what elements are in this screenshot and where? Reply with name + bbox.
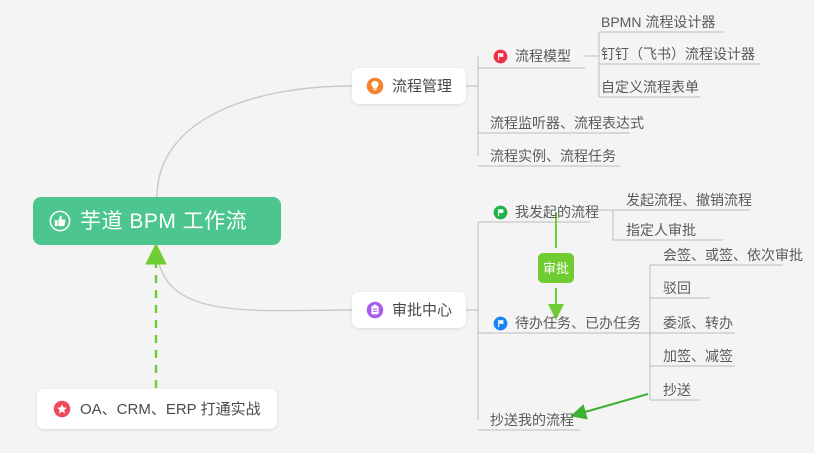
leaf-label: 钉钉（飞书）流程设计器 bbox=[601, 47, 755, 61]
leaf-label: 委派、转办 bbox=[663, 316, 733, 330]
leaf-start-cancel-process[interactable]: 发起流程、撤销流程 bbox=[626, 188, 752, 212]
root-label: 芋道 BPM 工作流 bbox=[80, 211, 247, 232]
approval-tag[interactable]: 审批 bbox=[538, 253, 574, 283]
red-star-icon bbox=[53, 400, 71, 418]
leaf-label: 流程实例、流程任务 bbox=[490, 149, 616, 163]
leaf-dingtalk-feishu-designer[interactable]: 钉钉（飞书）流程设计器 bbox=[601, 42, 755, 66]
leaf-countersign[interactable]: 会签、或签、依次审批 bbox=[663, 243, 803, 267]
thumbs-up-circle-icon bbox=[49, 210, 71, 232]
leaf-cc-to-me[interactable]: 抄送我的流程 bbox=[490, 408, 574, 432]
leaf-label: 我发起的流程 bbox=[515, 205, 599, 219]
leaf-process-model[interactable]: 流程模型 bbox=[493, 44, 571, 68]
root-node[interactable]: 芋道 BPM 工作流 bbox=[33, 197, 281, 245]
leaf-label: 加签、减签 bbox=[663, 349, 733, 363]
leaf-label: 流程监听器、流程表达式 bbox=[490, 116, 644, 130]
leaf-label: 待办任务、已办任务 bbox=[515, 316, 641, 330]
leaf-delegate-transfer[interactable]: 委派、转办 bbox=[663, 311, 733, 335]
leaf-cc[interactable]: 抄送 bbox=[663, 378, 691, 402]
leaf-label: 发起流程、撤销流程 bbox=[626, 193, 752, 207]
leaf-label: BPMN 流程设计器 bbox=[601, 15, 715, 29]
leaf-add-remove-sign[interactable]: 加签、减签 bbox=[663, 344, 733, 368]
leaf-label: 指定人审批 bbox=[626, 223, 696, 237]
leaf-todo-done-tasks[interactable]: 待办任务、已办任务 bbox=[493, 311, 641, 335]
leaf-assignee-approval[interactable]: 指定人审批 bbox=[626, 218, 696, 242]
leaf-custom-process-form[interactable]: 自定义流程表单 bbox=[601, 75, 699, 99]
leaf-label: 自定义流程表单 bbox=[601, 80, 699, 94]
callout-node-integration-practice[interactable]: OA、CRM、ERP 打通实战 bbox=[37, 389, 277, 429]
leaf-listener-expression[interactable]: 流程监听器、流程表达式 bbox=[490, 111, 644, 135]
leaf-reject[interactable]: 驳回 bbox=[663, 276, 691, 300]
clipboard-circle-icon bbox=[366, 301, 384, 319]
leaf-bpmn-designer[interactable]: BPMN 流程设计器 bbox=[601, 10, 715, 34]
leaf-label: 驳回 bbox=[663, 281, 691, 295]
flag-circle-icon bbox=[493, 205, 508, 220]
branch-node-process-management[interactable]: 流程管理 bbox=[352, 68, 466, 104]
callout-label: OA、CRM、ERP 打通实战 bbox=[80, 402, 261, 417]
leaf-label: 会签、或签、依次审批 bbox=[663, 248, 803, 262]
branch-node-approval-center[interactable]: 审批中心 bbox=[352, 292, 466, 328]
flag-circle-icon bbox=[493, 49, 508, 64]
lightbulb-circle-icon bbox=[366, 77, 384, 95]
branch-label: 审批中心 bbox=[392, 303, 452, 318]
leaf-label: 抄送我的流程 bbox=[490, 413, 574, 427]
mindmap-canvas: 芋道 BPM 工作流 流程管理 流程模型 BPMN 流程设计器 钉钉（飞书）流程… bbox=[0, 0, 814, 453]
approval-tag-label: 审批 bbox=[543, 262, 569, 275]
flag-circle-icon bbox=[493, 316, 508, 331]
branch-label: 流程管理 bbox=[392, 79, 452, 94]
leaf-instance-task[interactable]: 流程实例、流程任务 bbox=[490, 144, 616, 168]
leaf-my-initiated-process[interactable]: 我发起的流程 bbox=[493, 200, 599, 224]
leaf-label: 抄送 bbox=[663, 383, 691, 397]
leaf-label: 流程模型 bbox=[515, 49, 571, 63]
